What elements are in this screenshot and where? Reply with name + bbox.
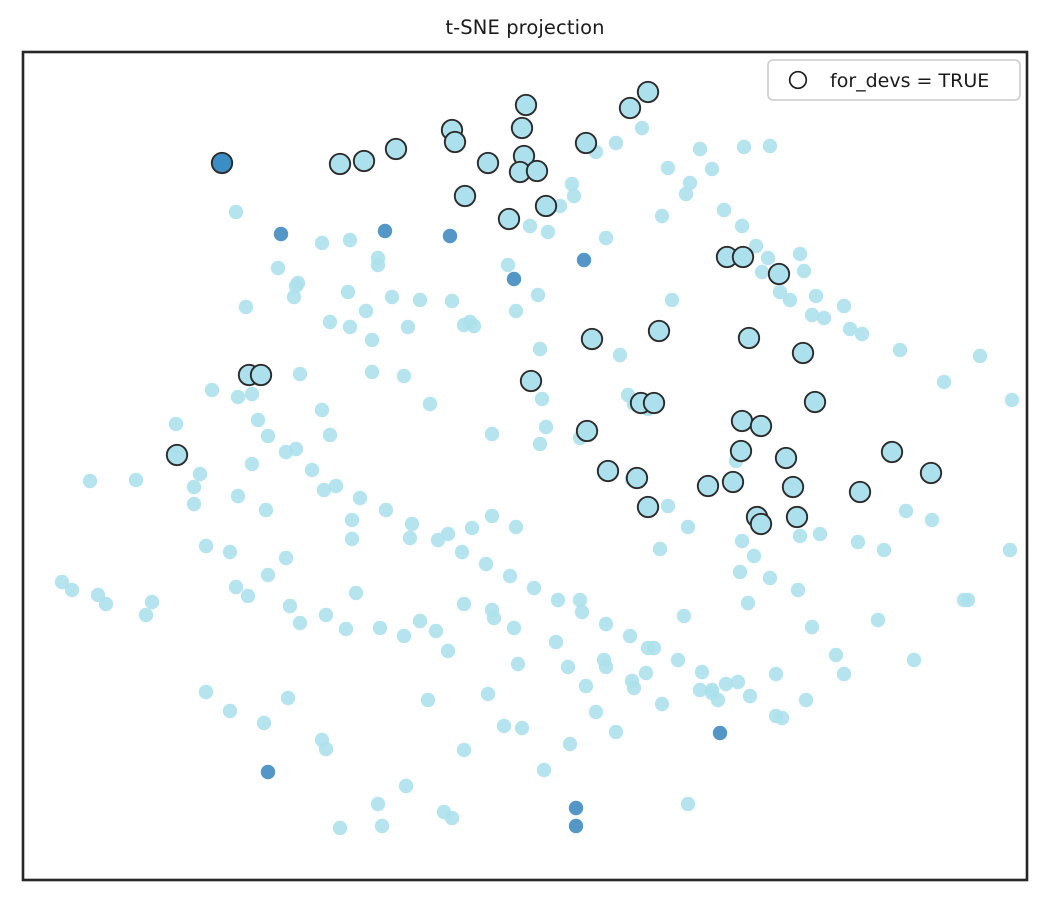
data-point[interactable] xyxy=(851,535,865,549)
data-point[interactable] xyxy=(401,320,415,334)
tsne-figure: t-SNE projection for_devs = TRUE xyxy=(0,0,1050,900)
data-point[interactable] xyxy=(639,666,653,680)
data-point[interactable] xyxy=(561,660,575,674)
data-point[interactable] xyxy=(373,621,387,635)
data-point[interactable] xyxy=(599,231,613,245)
data-point[interactable] xyxy=(537,763,551,777)
data-point[interactable] xyxy=(813,527,827,541)
data-point[interactable] xyxy=(399,779,413,793)
data-point-highlighted[interactable] xyxy=(723,472,743,492)
data-point[interactable] xyxy=(397,369,411,383)
data-point-highlighted[interactable] xyxy=(751,416,771,436)
data-point-highlighted[interactable] xyxy=(620,98,640,118)
data-point[interactable] xyxy=(371,251,385,265)
data-point[interactable] xyxy=(609,725,623,739)
data-point[interactable] xyxy=(443,229,457,243)
data-point[interactable] xyxy=(551,593,565,607)
data-point[interactable] xyxy=(385,290,399,304)
data-point[interactable] xyxy=(429,624,443,638)
data-point-highlighted[interactable] xyxy=(445,132,465,152)
data-point[interactable] xyxy=(683,176,697,190)
data-point[interactable] xyxy=(539,420,553,434)
data-point-highlighted[interactable] xyxy=(478,153,498,173)
data-point[interactable] xyxy=(287,290,301,304)
data-point[interactable] xyxy=(65,583,79,597)
data-point[interactable] xyxy=(533,437,547,451)
data-point[interactable] xyxy=(139,608,153,622)
data-point-highlighted[interactable] xyxy=(805,392,825,412)
data-point[interactable] xyxy=(511,657,525,671)
data-point-highlighted[interactable] xyxy=(731,441,751,461)
data-point[interactable] xyxy=(837,299,851,313)
data-point[interactable] xyxy=(507,272,521,286)
data-point[interactable] xyxy=(241,589,255,603)
data-point[interactable] xyxy=(623,629,637,643)
data-point[interactable] xyxy=(805,308,819,322)
data-point[interactable] xyxy=(205,383,219,397)
data-point[interactable] xyxy=(279,551,293,565)
data-point[interactable] xyxy=(579,679,593,693)
data-point[interactable] xyxy=(799,693,813,707)
data-point[interactable] xyxy=(231,489,245,503)
data-point[interactable] xyxy=(937,375,951,389)
data-point[interactable] xyxy=(665,293,679,307)
data-point[interactable] xyxy=(187,497,201,511)
data-point[interactable] xyxy=(457,597,471,611)
data-point[interactable] xyxy=(661,499,675,513)
data-point[interactable] xyxy=(365,333,379,347)
data-point[interactable] xyxy=(319,742,333,756)
data-point[interactable] xyxy=(485,509,499,523)
data-point[interactable] xyxy=(523,219,537,233)
data-point[interactable] xyxy=(733,565,747,579)
data-point[interactable] xyxy=(515,721,529,735)
data-point-highlighted[interactable] xyxy=(698,476,718,496)
data-point[interactable] xyxy=(1005,393,1019,407)
data-point[interactable] xyxy=(681,520,695,534)
data-point[interactable] xyxy=(279,445,293,459)
data-point[interactable] xyxy=(333,821,347,835)
data-point[interactable] xyxy=(365,365,379,379)
legend-label: for_devs = TRUE xyxy=(830,70,989,92)
data-point-highlighted[interactable] xyxy=(732,411,752,431)
data-point-highlighted[interactable] xyxy=(769,264,789,284)
data-point[interactable] xyxy=(397,629,411,643)
data-point[interactable] xyxy=(783,293,797,307)
data-point[interactable] xyxy=(925,513,939,527)
data-point[interactable] xyxy=(653,542,667,556)
data-point-highlighted[interactable] xyxy=(582,329,602,349)
data-point[interactable] xyxy=(575,605,589,619)
data-point[interactable] xyxy=(421,693,435,707)
data-point[interactable] xyxy=(83,474,97,488)
data-point[interactable] xyxy=(609,136,623,150)
data-point[interactable] xyxy=(343,320,357,334)
data-point[interactable] xyxy=(231,390,245,404)
data-point[interactable] xyxy=(463,315,477,329)
data-point[interactable] xyxy=(261,568,275,582)
data-point[interactable] xyxy=(457,743,471,757)
data-point[interactable] xyxy=(957,593,971,607)
data-point[interactable] xyxy=(655,697,669,711)
data-point[interactable] xyxy=(761,251,775,265)
data-point[interactable] xyxy=(479,557,493,571)
data-point[interactable] xyxy=(431,533,445,547)
data-point[interactable] xyxy=(809,289,823,303)
data-point[interactable] xyxy=(405,517,419,531)
data-point[interactable] xyxy=(329,479,343,493)
data-point[interactable] xyxy=(705,162,719,176)
data-point[interactable] xyxy=(359,304,373,318)
data-point[interactable] xyxy=(577,253,591,267)
data-point[interactable] xyxy=(413,293,427,307)
background-points-group xyxy=(55,121,1019,835)
data-point[interactable] xyxy=(455,545,469,559)
legend-marker-circle-icon xyxy=(790,72,807,89)
highlighted-points-group xyxy=(212,153,232,173)
data-point[interactable] xyxy=(169,417,183,431)
data-point[interactable] xyxy=(239,300,253,314)
data-point-highlighted[interactable] xyxy=(167,445,187,465)
data-point[interactable] xyxy=(531,288,545,302)
data-point[interactable] xyxy=(283,599,297,613)
data-point[interactable] xyxy=(541,225,555,239)
data-point[interactable] xyxy=(677,609,691,623)
data-point[interactable] xyxy=(509,520,523,534)
data-point-highlighted[interactable] xyxy=(850,482,870,502)
data-point[interactable] xyxy=(907,653,921,667)
data-point-highlighted[interactable] xyxy=(598,461,618,481)
data-point[interactable] xyxy=(755,265,769,279)
data-point[interactable] xyxy=(791,583,805,597)
data-point-highlighted[interactable] xyxy=(739,328,759,348)
data-point-highlighted[interactable] xyxy=(521,371,541,391)
data-point[interactable] xyxy=(793,247,807,261)
data-point-highlighted[interactable] xyxy=(638,497,658,517)
data-point[interactable] xyxy=(731,675,745,689)
data-point[interactable] xyxy=(509,304,523,318)
data-point-highlighted[interactable] xyxy=(787,507,807,527)
data-point[interactable] xyxy=(257,716,271,730)
data-point[interactable] xyxy=(527,581,541,595)
data-point[interactable] xyxy=(305,463,319,477)
data-point[interactable] xyxy=(315,403,329,417)
data-point[interactable] xyxy=(223,545,237,559)
data-point-highlighted[interactable] xyxy=(776,448,796,468)
plot-points-layer xyxy=(55,82,1019,835)
data-point[interactable] xyxy=(199,539,213,553)
data-point[interactable] xyxy=(817,311,831,325)
data-point[interactable] xyxy=(441,644,455,658)
data-point-highlighted[interactable] xyxy=(354,151,374,171)
data-point[interactable] xyxy=(747,549,761,563)
data-point[interactable] xyxy=(501,258,515,272)
data-point-highlighted[interactable] xyxy=(516,95,536,115)
data-point-highlighted[interactable] xyxy=(536,196,556,216)
data-point[interactable] xyxy=(403,531,417,545)
data-point-highlighted[interactable] xyxy=(793,343,813,363)
scatter-plot-canvas: for_devs = TRUE xyxy=(0,0,1050,900)
data-point[interactable] xyxy=(507,621,521,635)
data-point-highlighted[interactable] xyxy=(212,153,232,173)
data-point-highlighted[interactable] xyxy=(751,514,771,534)
data-point-highlighted[interactable] xyxy=(638,82,658,102)
data-point[interactable] xyxy=(353,491,367,505)
data-point[interactable] xyxy=(717,203,731,217)
data-point-highlighted[interactable] xyxy=(733,247,753,267)
data-point-highlighted[interactable] xyxy=(512,118,532,138)
data-point[interactable] xyxy=(533,342,547,356)
data-point-highlighted[interactable] xyxy=(576,133,596,153)
data-point[interactable] xyxy=(261,429,275,443)
data-point[interactable] xyxy=(719,677,733,691)
data-point[interactable] xyxy=(261,765,275,779)
data-point[interactable] xyxy=(229,580,243,594)
data-point[interactable] xyxy=(713,726,727,740)
data-point[interactable] xyxy=(497,719,511,733)
data-point[interactable] xyxy=(681,797,695,811)
data-point[interactable] xyxy=(423,397,437,411)
data-point[interactable] xyxy=(293,616,307,630)
data-point-highlighted[interactable] xyxy=(499,209,519,229)
data-point[interactable] xyxy=(599,617,613,631)
data-point[interactable] xyxy=(251,413,265,427)
data-point[interactable] xyxy=(379,503,393,517)
data-point[interactable] xyxy=(563,737,577,751)
data-point[interactable] xyxy=(129,473,143,487)
data-point-highlighted[interactable] xyxy=(330,154,350,174)
data-point[interactable] xyxy=(481,687,495,701)
data-point[interactable] xyxy=(627,681,641,695)
data-point[interactable] xyxy=(737,140,751,154)
data-point[interactable] xyxy=(245,457,259,471)
data-point[interactable] xyxy=(371,797,385,811)
data-point[interactable] xyxy=(711,693,725,707)
data-point[interactable] xyxy=(1003,543,1017,557)
data-point[interactable] xyxy=(693,142,707,156)
data-point[interactable] xyxy=(741,596,755,610)
data-point[interactable] xyxy=(485,427,499,441)
data-point[interactable] xyxy=(339,622,353,636)
data-point[interactable] xyxy=(613,348,627,362)
data-point[interactable] xyxy=(503,569,517,583)
data-point-highlighted[interactable] xyxy=(649,321,669,341)
data-point-highlighted[interactable] xyxy=(783,477,803,497)
data-point[interactable] xyxy=(187,480,201,494)
data-point[interactable] xyxy=(223,704,237,718)
data-point[interactable] xyxy=(349,586,363,600)
data-point-highlighted[interactable] xyxy=(644,393,664,413)
data-point[interactable] xyxy=(345,532,359,546)
data-point[interactable] xyxy=(871,613,885,627)
data-point[interactable] xyxy=(793,529,807,543)
data-point[interactable] xyxy=(99,597,113,611)
data-point[interactable] xyxy=(413,614,427,628)
data-point[interactable] xyxy=(743,689,757,703)
data-point[interactable] xyxy=(567,189,581,203)
data-point[interactable] xyxy=(274,227,288,241)
data-point[interactable] xyxy=(465,521,479,535)
data-point[interactable] xyxy=(769,667,783,681)
data-point[interactable] xyxy=(323,315,337,329)
data-point[interactable] xyxy=(837,667,851,681)
data-point[interactable] xyxy=(291,276,305,290)
data-point[interactable] xyxy=(375,819,389,833)
data-point[interactable] xyxy=(655,209,669,223)
data-point-highlighted[interactable] xyxy=(627,468,647,488)
data-point[interactable] xyxy=(763,139,777,153)
data-point[interactable] xyxy=(378,224,392,238)
data-point[interactable] xyxy=(763,571,777,585)
data-point[interactable] xyxy=(293,367,307,381)
data-point[interactable] xyxy=(899,504,913,518)
data-point[interactable] xyxy=(877,543,891,557)
data-point[interactable] xyxy=(259,503,273,517)
data-point-highlighted[interactable] xyxy=(386,139,406,159)
data-point[interactable] xyxy=(973,349,987,363)
data-point[interactable] xyxy=(855,327,869,341)
data-point[interactable] xyxy=(487,611,501,625)
data-point[interactable] xyxy=(245,387,259,401)
data-point-highlighted[interactable] xyxy=(577,421,597,441)
data-point[interactable] xyxy=(599,660,613,674)
data-point[interactable] xyxy=(199,685,213,699)
data-point[interactable] xyxy=(569,801,583,815)
data-point-highlighted[interactable] xyxy=(527,161,547,181)
data-point[interactable] xyxy=(589,705,603,719)
data-point[interactable] xyxy=(549,635,563,649)
data-point[interactable] xyxy=(569,819,583,833)
data-point[interactable] xyxy=(829,648,843,662)
data-point-highlighted[interactable] xyxy=(455,186,475,206)
data-point[interactable] xyxy=(695,665,709,679)
data-point[interactable] xyxy=(315,236,329,250)
data-point-highlighted[interactable] xyxy=(921,463,941,483)
data-point[interactable] xyxy=(343,233,357,247)
data-point[interactable] xyxy=(647,641,661,655)
data-point[interactable] xyxy=(535,392,549,406)
data-point[interactable] xyxy=(565,177,579,191)
data-point[interactable] xyxy=(271,261,285,275)
data-point[interactable] xyxy=(445,294,459,308)
data-point[interactable] xyxy=(229,205,243,219)
data-point[interactable] xyxy=(345,513,359,527)
data-point[interactable] xyxy=(319,608,333,622)
data-point[interactable] xyxy=(797,264,811,278)
data-point[interactable] xyxy=(661,161,675,175)
data-point[interactable] xyxy=(193,467,207,481)
data-point-highlighted[interactable] xyxy=(251,365,271,385)
data-point[interactable] xyxy=(805,620,819,634)
data-point[interactable] xyxy=(341,285,355,299)
data-point[interactable] xyxy=(281,691,295,705)
highlighted-points-group xyxy=(167,82,941,534)
data-point[interactable] xyxy=(735,219,749,233)
data-point[interactable] xyxy=(145,595,159,609)
data-point[interactable] xyxy=(671,653,685,667)
data-point[interactable] xyxy=(769,709,783,723)
legend[interactable]: for_devs = TRUE xyxy=(768,60,1020,100)
data-point[interactable] xyxy=(323,428,337,442)
data-point[interactable] xyxy=(735,534,749,548)
data-point-highlighted[interactable] xyxy=(882,442,902,462)
data-point[interactable] xyxy=(635,121,649,135)
data-point[interactable] xyxy=(893,343,907,357)
data-point[interactable] xyxy=(445,811,459,825)
data-point[interactable] xyxy=(573,593,587,607)
